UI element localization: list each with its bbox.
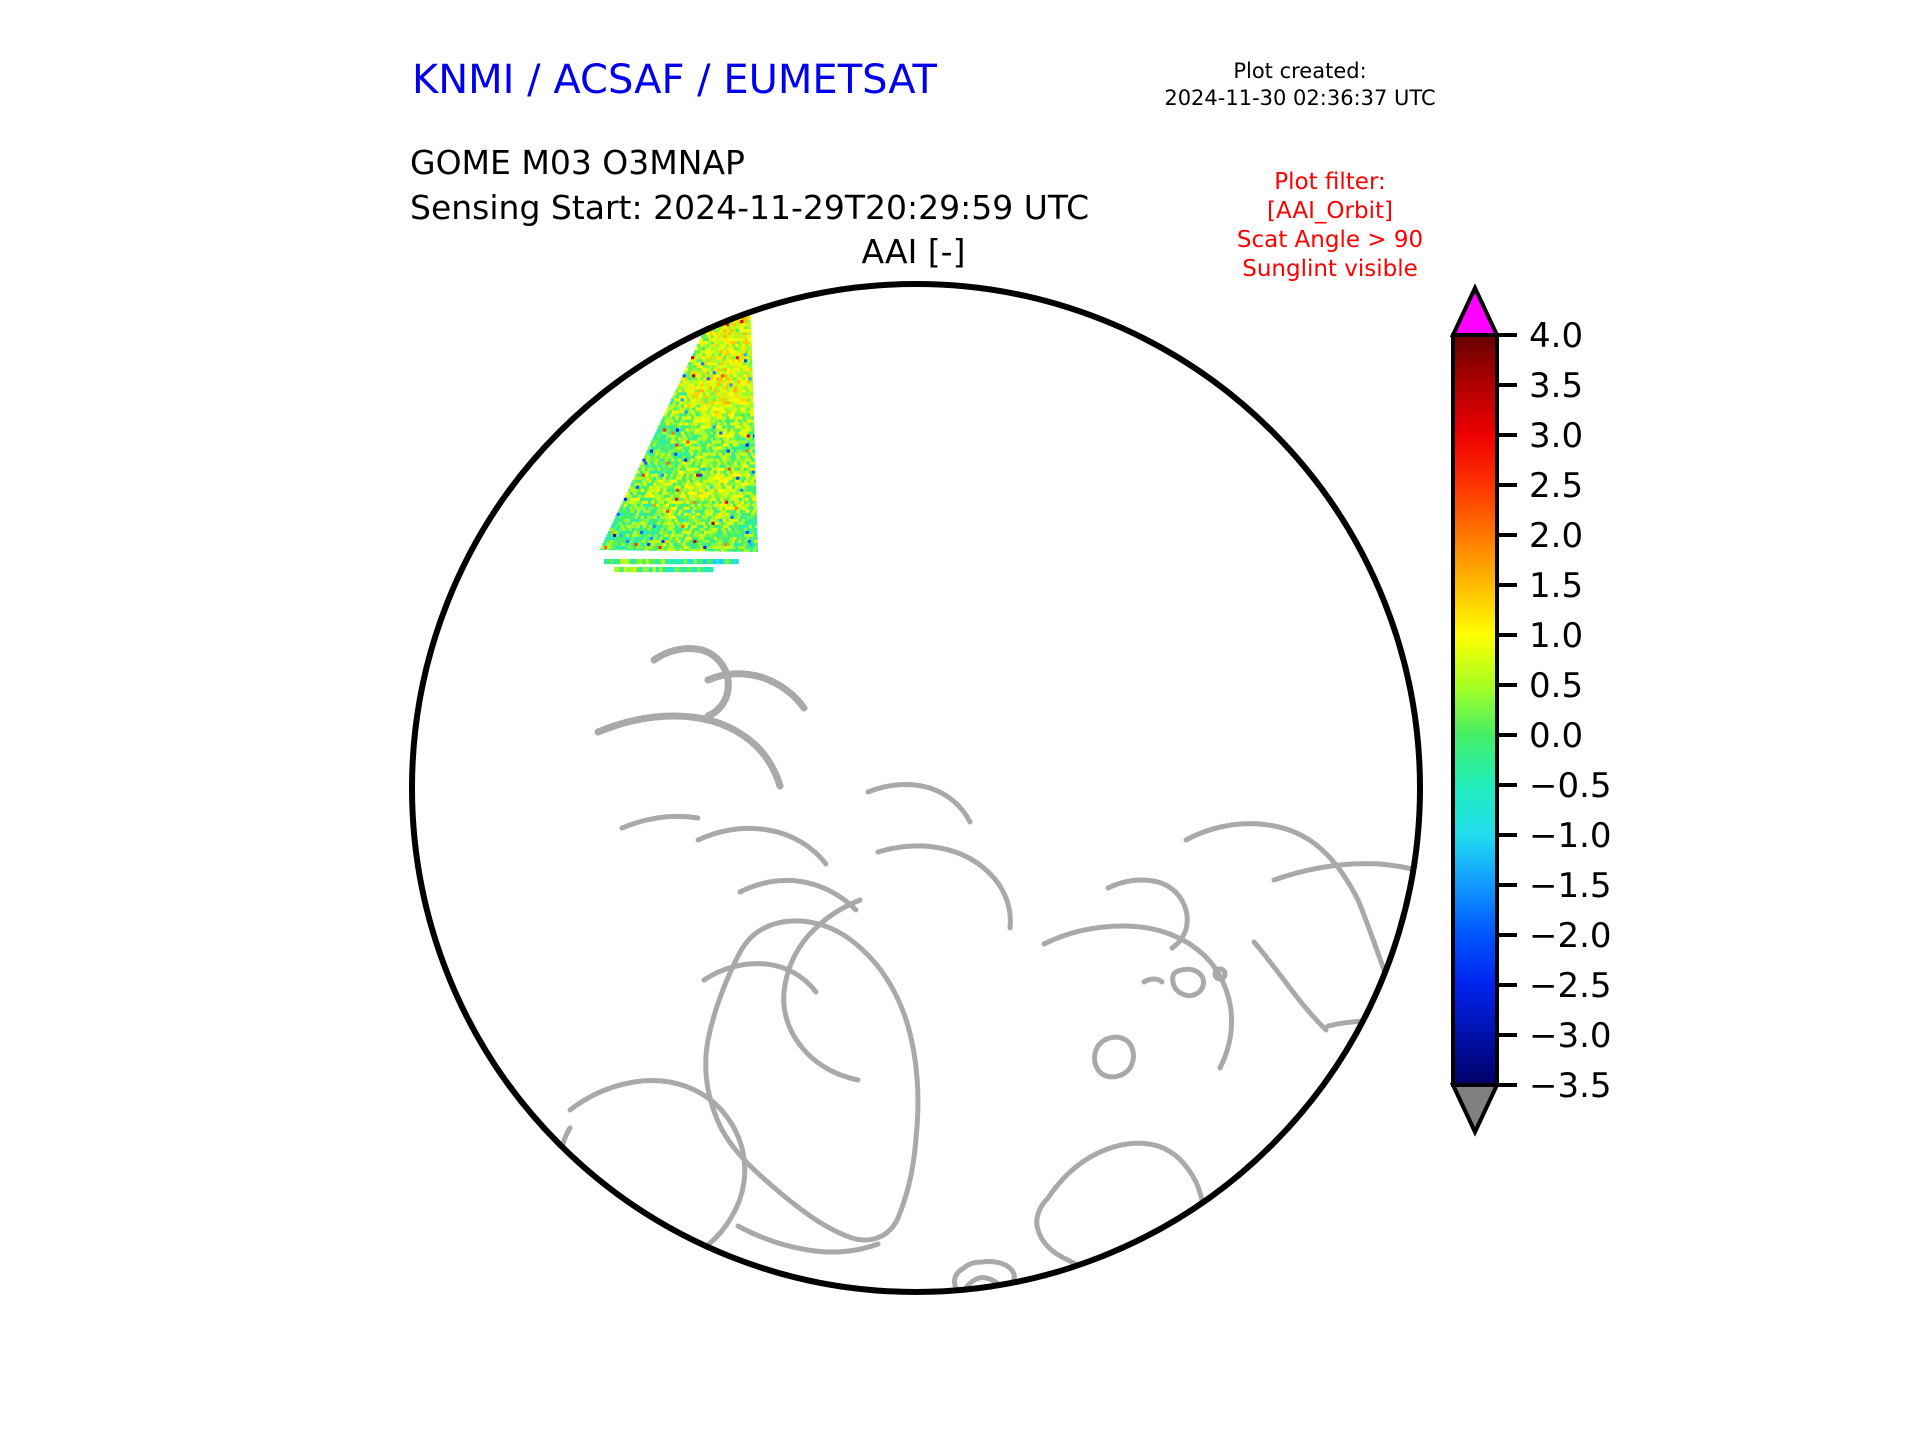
plot-filter-condition: Scat Angle > 90: [1160, 226, 1500, 255]
colorbar-gradient-body[interactable]: [1453, 335, 1497, 1085]
colorbar-over-range-arrow: [1453, 288, 1497, 335]
plot-filter-block: Plot filter: [AAI_Orbit] Scat Angle > 90…: [1160, 168, 1500, 284]
colorbar-tick-label: 2.0: [1529, 516, 1583, 556]
instrument-product-line: GOME M03 O3MNAP: [410, 140, 1089, 185]
plot-filter-label: Plot filter:: [1160, 168, 1500, 197]
plot-created-value: 2024-11-30 02:36:37 UTC: [1100, 85, 1500, 112]
colorbar-panel[interactable]: 4.03.53.02.52.01.51.00.50.0−0.5−1.0−1.5−…: [1425, 280, 1665, 1310]
colorbar-ticks: 4.03.53.02.52.01.51.00.50.0−0.5−1.0−1.5−…: [1497, 316, 1612, 1106]
colorbar-tick-label: −1.0: [1529, 816, 1612, 856]
colorbar-tick-label: −2.0: [1529, 916, 1612, 956]
colorbar[interactable]: 4.03.53.02.52.01.51.00.50.0−0.5−1.0−1.5−…: [1425, 280, 1665, 1310]
plot-created-block: Plot created: 2024-11-30 02:36:37 UTC: [1100, 58, 1500, 112]
colorbar-tick-label: 1.5: [1529, 566, 1583, 606]
colorbar-tick-label: 2.5: [1529, 466, 1583, 506]
sensing-start-line: Sensing Start: 2024-11-29T20:29:59 UTC: [410, 185, 1089, 230]
product-info-block: GOME M03 O3MNAP Sensing Start: 2024-11-2…: [410, 140, 1089, 230]
colorbar-tick-label: 1.0: [1529, 616, 1583, 656]
colorbar-tick-label: 0.5: [1529, 666, 1583, 706]
plot-created-label: Plot created:: [1100, 58, 1500, 85]
variable-title: AAI [-]: [0, 232, 1827, 271]
polar-stereographic-map: [408, 280, 1424, 1296]
colorbar-tick-label: 3.0: [1529, 416, 1583, 456]
plot-filter-name: [AAI_Orbit]: [1160, 197, 1500, 226]
organisation-title: KNMI / ACSAF / EUMETSAT: [412, 57, 937, 103]
colorbar-under-range-arrow: [1453, 1085, 1497, 1132]
colorbar-tick-label: −0.5: [1529, 766, 1612, 806]
colorbar-tick-label: −2.5: [1529, 966, 1612, 1006]
colorbar-tick-label: −3.0: [1529, 1016, 1612, 1056]
colorbar-tick-label: 3.5: [1529, 366, 1583, 406]
colorbar-tick-label: −1.5: [1529, 866, 1612, 906]
colorbar-tick-label: 0.0: [1529, 716, 1583, 756]
colorbar-tick-label: −3.5: [1529, 1066, 1612, 1106]
colorbar-tick-label: 4.0: [1529, 316, 1583, 356]
polar-map-panel: [408, 280, 1424, 1296]
